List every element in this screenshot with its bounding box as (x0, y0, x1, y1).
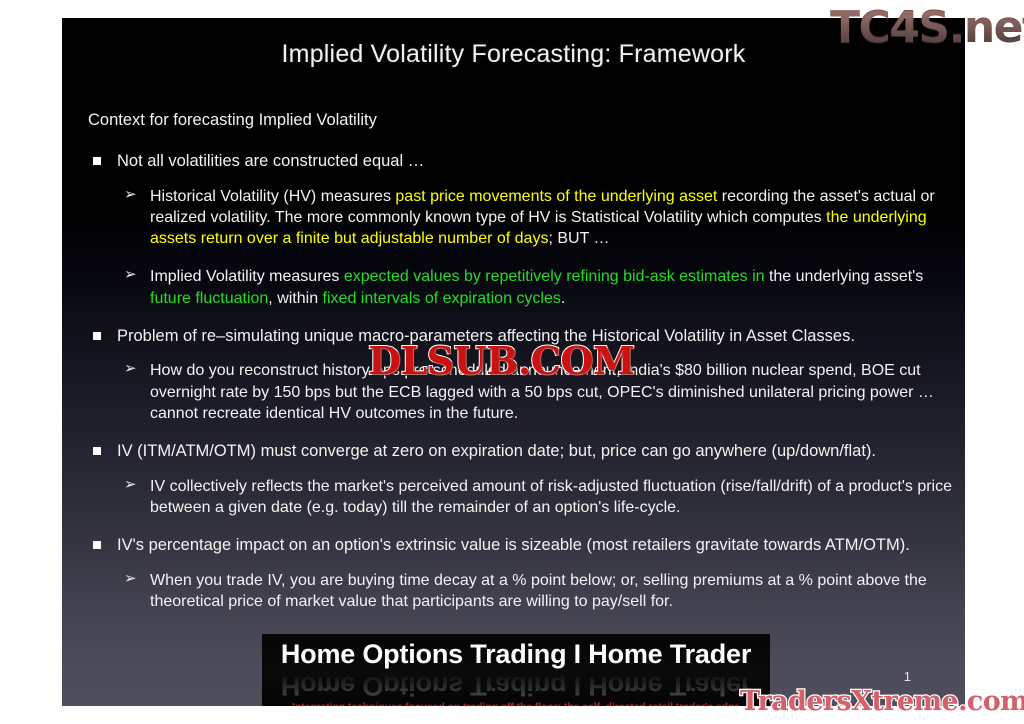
subbullet-text-part1: Implied Volatility measures (150, 268, 344, 285)
slide-body: Context for forecasting Implied Volatili… (88, 110, 953, 625)
arrow-bullet-icon: ➢ (124, 185, 140, 205)
bullet-text: Problem of re–simulating unique macro-pa… (117, 327, 855, 345)
page-title: Implied Volatility Forecasting: Framewor… (62, 40, 965, 69)
bullet-iv-converge-at-zero: IV (ITM/ATM/OTM) must converge at zero o… (88, 441, 953, 462)
square-bullet-icon (93, 332, 101, 340)
presentation-slide: Implied Volatility Forecasting: Framewor… (62, 18, 965, 706)
slide-stage: Implied Volatility Forecasting: Framewor… (0, 0, 1024, 724)
highlight-future-fluctuation: future fluctuation (150, 290, 268, 307)
banner-tagline: Integrating techniques focused on tradin… (262, 701, 770, 706)
arrow-bullet-icon: ➢ (124, 569, 140, 589)
footer-banner: Home Options Trading I Home Trader Home … (262, 634, 770, 706)
subbullet-reconstruct-history: ➢ How do you reconstruct history bps pre… (88, 360, 953, 424)
subbullet-text: When you trade IV, you are buying time d… (150, 572, 927, 610)
subbullet-text-part2: the underlying asset's (765, 268, 924, 285)
subbullet-text-part3: , within (268, 290, 322, 307)
bullet-resimulating-macro-parameters: Problem of re–simulating unique macro-pa… (88, 326, 953, 347)
page-number: 1 (904, 669, 911, 684)
bullet-text: IV's percentage impact on an option's ex… (117, 536, 910, 554)
arrow-bullet-icon: ➢ (124, 475, 140, 495)
banner-title-reflection: Home Options Trading I Home Trader (262, 670, 770, 701)
square-bullet-icon (93, 157, 101, 165)
subbullet-text-part3: ; BUT … (548, 230, 609, 247)
subbullet-text-part4: . (561, 290, 565, 307)
square-bullet-icon (93, 541, 101, 549)
subbullet-text: How do you reconstruct history bps pre-s… (150, 362, 934, 422)
banner-title: Home Options Trading I Home Trader (262, 639, 770, 670)
subbullet-iv-collectively-reflects: ➢ IV collectively reflects the market's … (88, 476, 953, 519)
subbullet-text: IV collectively reflects the market's pe… (150, 478, 952, 516)
bullet-not-all-volatilities: Not all volatilities are constructed equ… (88, 151, 953, 172)
subbullet-historical-volatility: ➢Historical Volatility (HV) measures pas… (88, 186, 953, 250)
subbullet-text-part1: Historical Volatility (HV) measures (150, 188, 395, 205)
bullet-text: IV (ITM/ATM/OTM) must converge at zero o… (117, 442, 876, 460)
intro-text: Context for forecasting Implied Volatili… (88, 110, 953, 131)
bullet-iv-percentage-impact: IV's percentage impact on an option's ex… (88, 535, 953, 556)
subbullet-when-you-trade-iv: ➢ When you trade IV, you are buying time… (88, 570, 953, 613)
subbullet-implied-volatility: ➢Implied Volatility measures expected va… (88, 266, 953, 309)
bullet-text: Not all volatilities are constructed equ… (117, 152, 424, 170)
highlight-fixed-intervals: fixed intervals of expiration cycles (323, 290, 561, 307)
arrow-bullet-icon: ➢ (124, 359, 140, 379)
square-bullet-icon (93, 447, 101, 455)
highlight-expected-values: expected values by repetitively refining… (344, 268, 765, 285)
highlight-past-price-movements: past price movements of the underlying a… (395, 188, 717, 205)
arrow-bullet-icon: ➢ (124, 265, 140, 285)
